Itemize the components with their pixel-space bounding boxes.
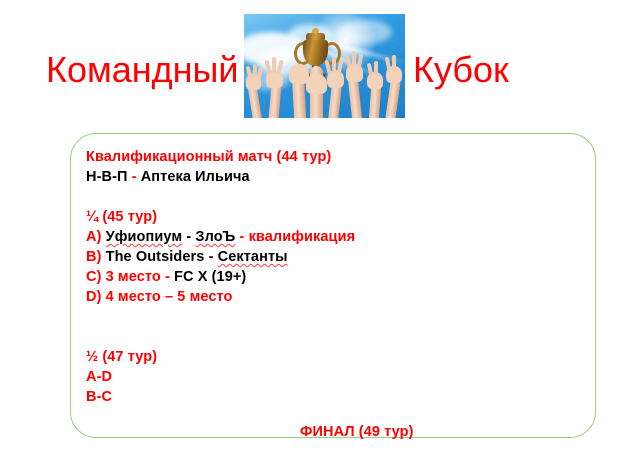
- raised-hand: [272, 57, 276, 73]
- trophy-photo: [244, 14, 405, 118]
- slide-canvas: Командный Кубок: [0, 0, 640, 455]
- bracket-segment: ½ (47 тур): [86, 349, 157, 365]
- bracket-line-qualification-header: Квалификационный матч (44 тур): [86, 147, 556, 167]
- bracket-line-gap-2: [86, 307, 556, 327]
- bracket-segment: ЗлоЪ: [195, 229, 235, 245]
- bracket-line-semifinal-1: A-D: [86, 367, 556, 387]
- bracket-segment: A-D: [86, 369, 112, 385]
- bracket-segment: -: [235, 229, 248, 245]
- page-title-right-word: Кубок: [413, 48, 509, 92]
- page-title-left-word: Командный: [46, 48, 239, 92]
- bracket-segment: -: [182, 229, 195, 245]
- tournament-bracket-text: Квалификационный матч (44 тур)Н-В-П - Ап…: [86, 147, 556, 407]
- bracket-segment: -: [128, 169, 141, 185]
- raised-hand: [374, 61, 378, 75]
- bracket-segment: Аптека Ильича: [141, 169, 250, 185]
- bracket-line-gap-1: [86, 187, 556, 207]
- bracket-line-quarterfinal-a: A) Уфиопиум - ЗлоЪ - квалификация: [86, 227, 556, 247]
- bracket-line-quarterfinal-d: D) 4 место – 5 место: [86, 287, 556, 307]
- bracket-segment: квалификация: [249, 229, 356, 245]
- final-round-label: ФИНАЛ (49 тур): [300, 424, 414, 440]
- bracket-segment: The Outsiders: [106, 249, 205, 265]
- bracket-line-qualification-match: Н-В-П - Аптека Ильича: [86, 167, 556, 187]
- bracket-segment: Н-В-П: [86, 169, 128, 185]
- bracket-segment: Квалификационный матч (44 тур): [86, 149, 331, 165]
- bracket-line-quarterfinal-header: ¼ (45 тур): [86, 207, 556, 227]
- bracket-segment: ¼ (45 тур): [86, 209, 157, 225]
- bracket-segment: FC X (19+): [174, 269, 246, 285]
- trophy-lid: [306, 33, 325, 40]
- cloud-shape: [340, 20, 392, 44]
- bracket-line-semifinal-2: B-C: [86, 387, 556, 407]
- bracket-line-semifinal-header: ½ (47 тур): [86, 347, 556, 367]
- bracket-segment: -: [204, 249, 217, 265]
- bracket-segment: Уфиопиум: [106, 229, 183, 245]
- bracket-segment: C) 3 место -: [86, 269, 174, 285]
- bracket-line-quarterfinal-c: C) 3 место - FC X (19+): [86, 267, 556, 287]
- raised-hand: [352, 51, 356, 67]
- bracket-line-gap-3: [86, 327, 556, 347]
- bracket-segment: B): [86, 249, 106, 265]
- raised-hand: [392, 55, 396, 70]
- bracket-segment: A): [86, 229, 106, 245]
- bracket-segment: Сектанты: [218, 249, 288, 265]
- raised-hand: [332, 57, 336, 73]
- bracket-line-quarterfinal-b: B) The Outsiders - Сектанты: [86, 247, 556, 267]
- bracket-segment: D) 4 место – 5 место: [86, 289, 233, 305]
- bracket-segment: B-C: [86, 389, 112, 405]
- raised-hand: [306, 74, 327, 94]
